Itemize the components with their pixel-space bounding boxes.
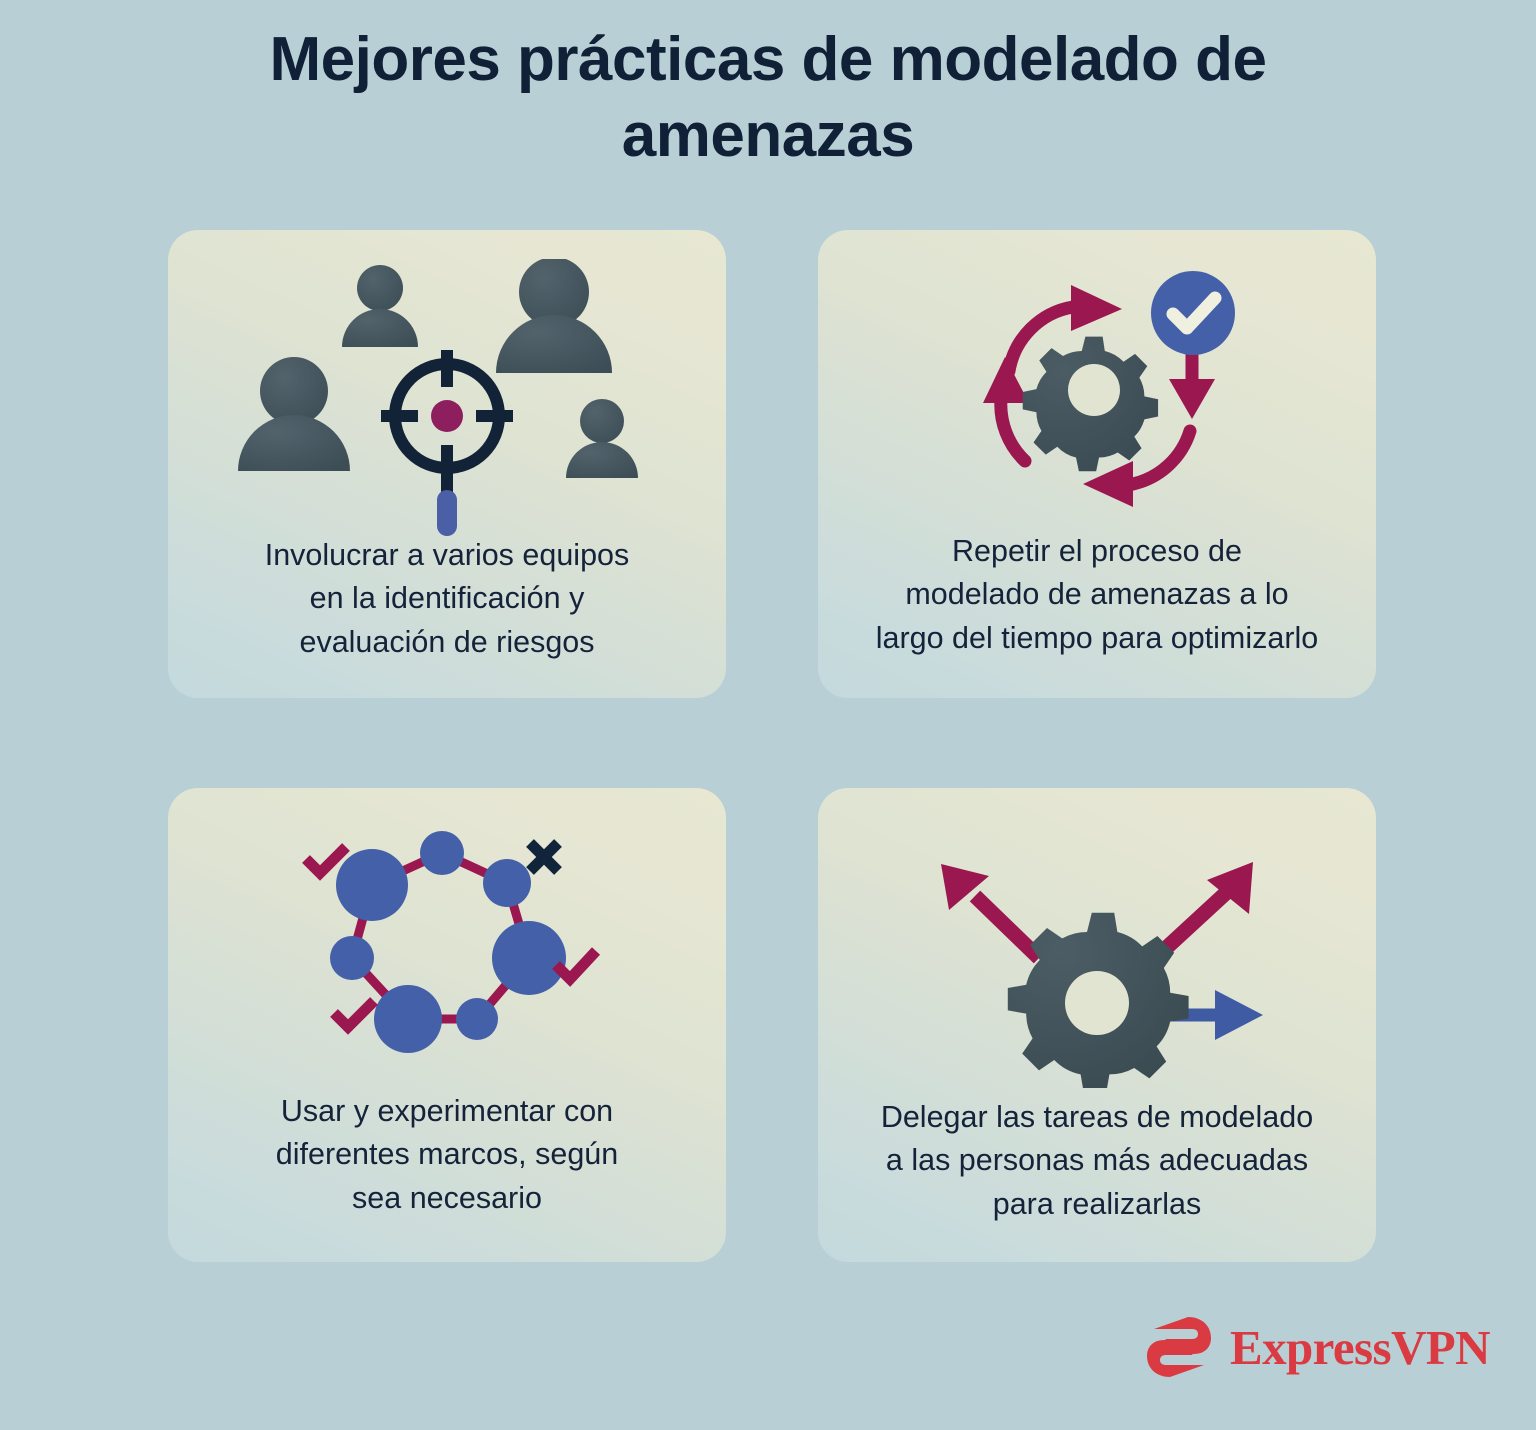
practice-card-delegate-tasks: Delegar las tareas de modelado a las per…	[818, 788, 1376, 1262]
practices-grid: Involucrar a varios equipos en la identi…	[168, 230, 1376, 1262]
card-caption: Involucrar a varios equipos en la identi…	[168, 534, 726, 664]
expressvpn-e-mark-icon	[1146, 1316, 1212, 1378]
brand-wordmark: ExpressVPN	[1230, 1323, 1490, 1372]
card-caption: Usar y experimentar con diferentes marco…	[168, 1090, 726, 1220]
card-caption: Delegar las tareas de modelado a las per…	[818, 1096, 1376, 1226]
network-nodes-check-cross-icon	[168, 818, 726, 1078]
page-title: Mejores prácticas de modelado de amenaza…	[0, 22, 1536, 173]
brand-logo[interactable]: ExpressVPN	[1146, 1316, 1490, 1378]
card-caption: Repetir el proceso de modelado de amenaz…	[818, 530, 1376, 660]
practice-card-iterate-process: Repetir el proceso de modelado de amenaz…	[818, 230, 1376, 698]
practice-card-involve-teams: Involucrar a varios equipos en la identi…	[168, 230, 726, 698]
target-crosshair-people-icon	[168, 256, 726, 546]
practice-card-experiment-frameworks: Usar y experimentar con diferentes marco…	[168, 788, 726, 1262]
gear-cycle-check-icon	[818, 268, 1376, 518]
gear-outgoing-arrows-icon	[818, 858, 1376, 1088]
